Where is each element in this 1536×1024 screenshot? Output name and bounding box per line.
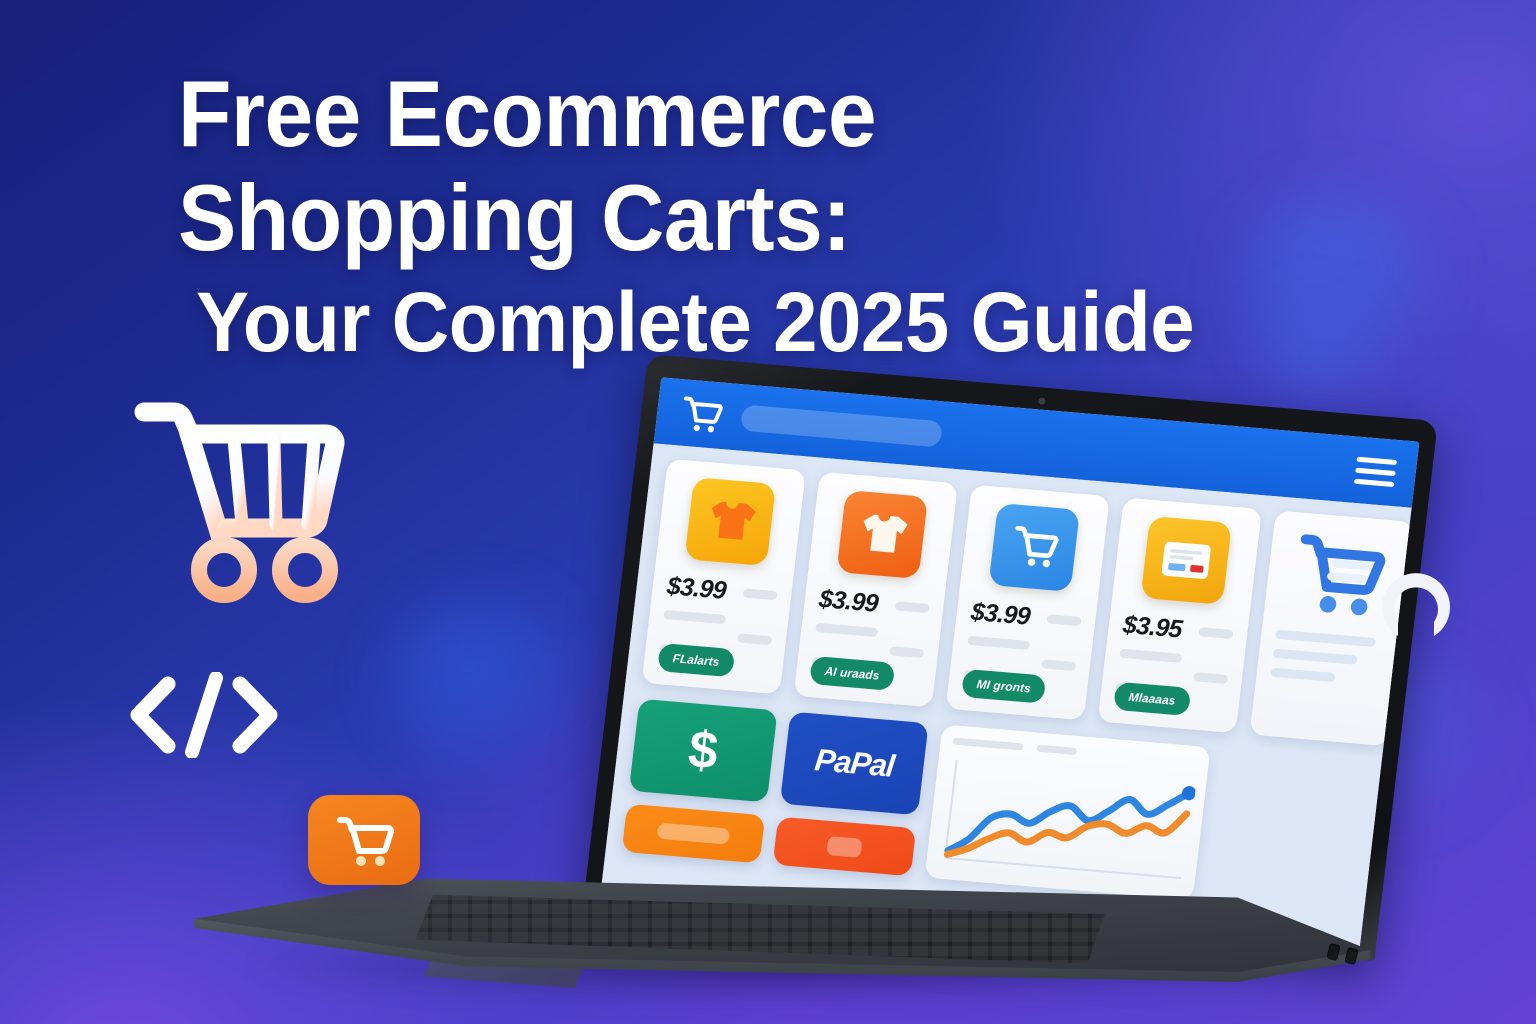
tshirt-icon [701, 495, 759, 547]
button-label-placeholder [656, 823, 730, 845]
page-title-line-3: Your Complete 2025 Guide [196, 274, 1281, 370]
product-card[interactable]: $3.99 AI uraads [794, 472, 958, 708]
paypal-logo-text: PaPal [813, 742, 896, 785]
laptop-screen-assembly: $3.99 FLalarts [584, 354, 1438, 961]
placeholder-line [967, 636, 1030, 650]
placeholder-line [1273, 649, 1358, 665]
placeholder-line [663, 610, 726, 624]
tshirt-icon [853, 508, 911, 560]
placeholder-line [1270, 668, 1335, 682]
product-price: $3.99 [969, 598, 1031, 632]
search-input[interactable] [740, 405, 943, 448]
chart-series-line [948, 773, 1189, 870]
secondary-action-button[interactable] [773, 817, 917, 877]
placeholder-line [895, 601, 930, 613]
line-chart [936, 753, 1198, 890]
placeholder-line [815, 623, 878, 637]
shopping-cart-large-icon [130, 392, 370, 604]
paypal-payment-tile[interactable]: PaPal [780, 712, 929, 816]
placeholder-line [1275, 630, 1376, 648]
product-price: $3.99 [665, 572, 727, 606]
product-card[interactable]: $3.99 MI gronts [946, 485, 1110, 721]
product-thumbnail [1140, 516, 1232, 605]
placeholder-line [1119, 649, 1182, 663]
placeholder-line [737, 633, 772, 645]
product-grid: $3.99 FLalarts [642, 459, 1410, 746]
product-thumbnail [836, 490, 928, 579]
analytics-chart-panel [925, 724, 1211, 900]
shopping-cart-icon [332, 811, 396, 869]
button-label-placeholder [826, 835, 862, 857]
product-card[interactable]: $3.95 Mlaaaas [1098, 497, 1262, 733]
product-price: $3.99 [817, 585, 879, 619]
placeholder-line [1193, 672, 1228, 684]
placeholder-line [1047, 614, 1082, 626]
dollar-payment-tile[interactable]: $ [629, 699, 778, 803]
shopping-cart-icon [1005, 521, 1063, 573]
laptop-base [180, 876, 1375, 1006]
omega-ring-icon [1368, 548, 1464, 644]
product-card[interactable]: $3.99 FLalarts [642, 459, 806, 695]
credit-card-icon [1157, 537, 1216, 584]
chart-legend-item [1036, 745, 1077, 755]
placeholder-line [889, 646, 924, 658]
cart-icon[interactable] [677, 392, 726, 436]
webcam-icon [1038, 397, 1046, 405]
page-title-line-2: Shopping Carts: [178, 166, 1257, 270]
dollar-icon: $ [686, 723, 721, 777]
code-brackets-icon [126, 672, 282, 758]
usb-port-icon [1344, 947, 1359, 965]
product-action-button[interactable]: MI gronts [961, 669, 1046, 704]
product-price: $3.95 [1121, 611, 1183, 645]
product-thumbnail [988, 503, 1080, 592]
payment-methods-grid: $ PaPal [622, 699, 929, 877]
page-title-line-1: Free Ecommerce [178, 62, 1257, 166]
product-action-button[interactable]: AI uraads [809, 656, 895, 691]
laptop-screen-content: $3.99 FLalarts [601, 377, 1419, 951]
chart-legend-item [952, 737, 1023, 750]
primary-action-button[interactable] [622, 804, 766, 864]
hamburger-menu-icon[interactable] [1354, 456, 1397, 486]
placeholder-line [1199, 627, 1234, 639]
orange-cart-tile-icon[interactable] [308, 795, 420, 885]
placeholder-line [743, 588, 778, 600]
product-action-button[interactable]: FLalarts [657, 643, 735, 677]
product-action-button[interactable]: Mlaaaas [1113, 682, 1191, 716]
page-title: Free Ecommerce Shopping Carts: Your Comp… [178, 62, 1338, 370]
product-thumbnail [684, 477, 776, 566]
placeholder-line [1041, 659, 1076, 671]
